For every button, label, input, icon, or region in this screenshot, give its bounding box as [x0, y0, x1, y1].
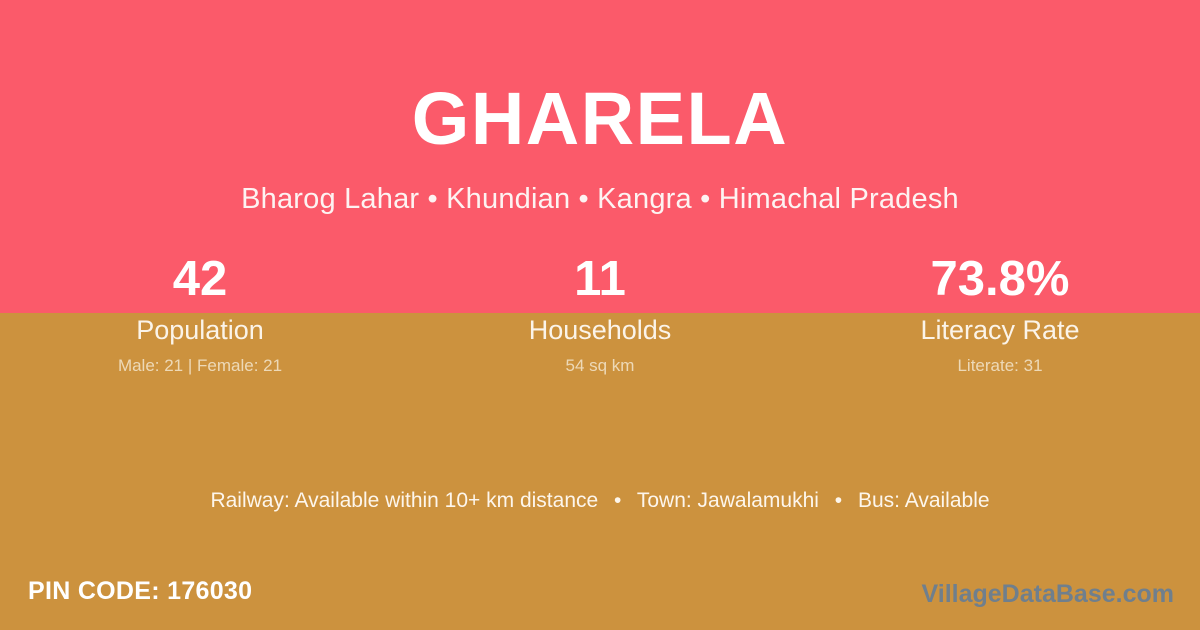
- stat-literacy-rate: 73.8% Literacy Rate Literate: 31: [800, 248, 1200, 378]
- breadcrumb: Bharog Lahar • Khundian • Kangra • Himac…: [0, 182, 1200, 217]
- stat-population: 42 Population Male: 21 | Female: 21: [0, 248, 400, 378]
- stat-literacy-rate-value: 73.8%: [800, 248, 1200, 310]
- infra-railway: Railway: Available within 10+ km distanc…: [210, 489, 598, 512]
- village-info-card: GHARELA Bharog Lahar • Khundian • Kangra…: [0, 0, 1200, 630]
- stat-population-sub: Male: 21 | Female: 21: [0, 354, 400, 378]
- infra-separator-1: •: [604, 487, 631, 515]
- infra-bus: Bus: Available: [858, 489, 990, 512]
- page-title: GHARELA: [0, 82, 1200, 156]
- stat-population-value: 42: [0, 248, 400, 310]
- stat-households-value: 11: [400, 248, 800, 310]
- stat-literacy-rate-label: Literacy Rate: [800, 313, 1200, 347]
- stat-literacy-rate-sub: Literate: 31: [800, 354, 1200, 378]
- stat-households: 11 Households 54 sq km: [400, 248, 800, 378]
- stats-row: 42 Population Male: 21 | Female: 21 11 H…: [0, 248, 1200, 378]
- pin-code-label: PIN CODE: 176030: [28, 575, 252, 607]
- stat-population-label: Population: [0, 313, 400, 347]
- stat-households-label: Households: [400, 313, 800, 347]
- stat-households-sub: 54 sq km: [400, 354, 800, 378]
- card-content: GHARELA Bharog Lahar • Khundian • Kangra…: [0, 0, 1200, 630]
- infra-separator-2: •: [825, 487, 852, 515]
- site-brand: VillageDataBase.com: [922, 578, 1174, 610]
- infrastructure-line: Railway: Available within 10+ km distanc…: [0, 487, 1200, 515]
- infra-town: Town: Jawalamukhi: [637, 489, 819, 512]
